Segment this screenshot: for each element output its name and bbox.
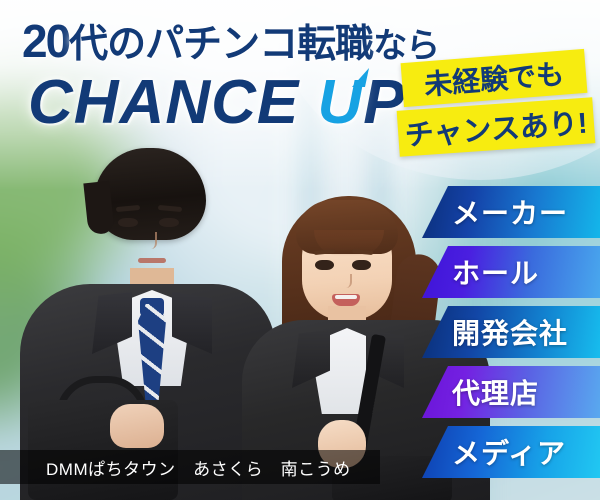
chance-up-logo: CHANCE UP	[28, 72, 406, 134]
female-mouth	[332, 294, 360, 306]
ad-banner[interactable]: 20代のパチンコ転職なら CHANCE UP 未経験でも チャンスあり! メーカ…	[0, 0, 600, 500]
category-list: メーカー ホール 開発会社 代理店 メディア	[422, 186, 600, 486]
male-model	[20, 148, 275, 500]
badge-line-1-text: 未経験でも	[423, 53, 566, 104]
category-item-developer[interactable]: 開発会社	[422, 306, 600, 358]
male-eye-left	[118, 218, 138, 227]
female-eye-left	[315, 260, 334, 270]
male-hair	[94, 148, 206, 240]
category-item-media[interactable]: メディア	[422, 426, 600, 478]
highlight-badge: 未経験でも チャンスあり!	[398, 56, 596, 160]
models-photo	[0, 140, 470, 500]
badge-line-1: 未経験でも	[401, 49, 588, 107]
female-eye-right	[352, 260, 371, 270]
category-label-agency: 代理店	[452, 372, 539, 412]
category-item-maker[interactable]: メーカー	[422, 186, 600, 238]
female-bangs	[296, 200, 398, 254]
headline-number: 20	[22, 15, 69, 67]
badge-line-2-text: チャンスあり!	[403, 100, 588, 155]
headline-text: 20代のパチンコ転職なら	[22, 18, 439, 64]
logo-word-chance: CHANCE	[28, 68, 299, 137]
male-eye-right	[159, 218, 179, 227]
male-nose	[146, 232, 157, 249]
category-label-maker: メーカー	[452, 192, 568, 232]
male-mouth	[138, 258, 166, 263]
category-label-hall: ホール	[452, 252, 539, 292]
logo-letter-u: U	[317, 72, 363, 134]
headline-main: 代のパチンコ転職	[69, 23, 373, 66]
category-label-developer: 開発会社	[452, 312, 568, 352]
caption-bar: DMMぱちタウン あさくら 南こうめ	[0, 450, 380, 484]
badge-line-2: チャンスあり!	[397, 97, 596, 157]
caption-text: DMMぱちタウン あさくら 南こうめ	[0, 455, 351, 480]
category-item-hall[interactable]: ホール	[422, 246, 600, 298]
female-nose	[342, 274, 352, 288]
category-item-agency[interactable]: 代理店	[422, 366, 600, 418]
category-label-media: メディア	[452, 432, 566, 472]
male-hand	[110, 404, 164, 448]
